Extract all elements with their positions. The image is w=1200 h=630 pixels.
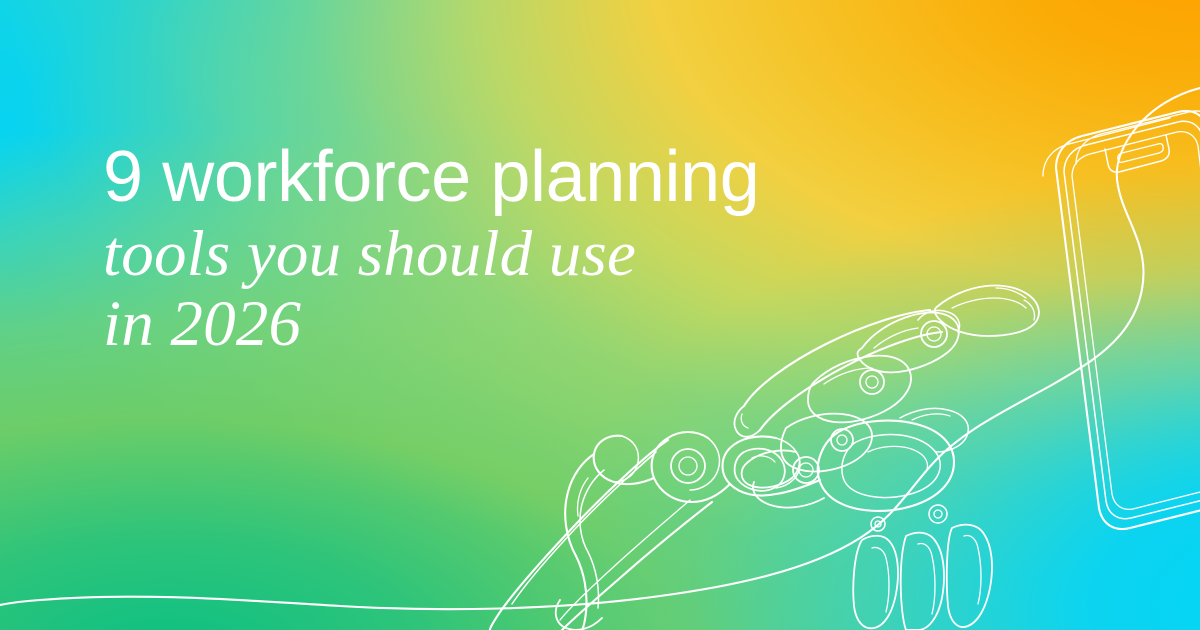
headline-line-1: 9 workforce planning	[103, 138, 1053, 216]
social-share-banner: 9 workforce planning tools you should us…	[0, 0, 1200, 630]
headline-block: 9 workforce planning tools you should us…	[103, 138, 1053, 360]
headline-line-2: tools you should use	[103, 218, 1053, 290]
headline-line-3: in 2026	[103, 288, 1053, 360]
